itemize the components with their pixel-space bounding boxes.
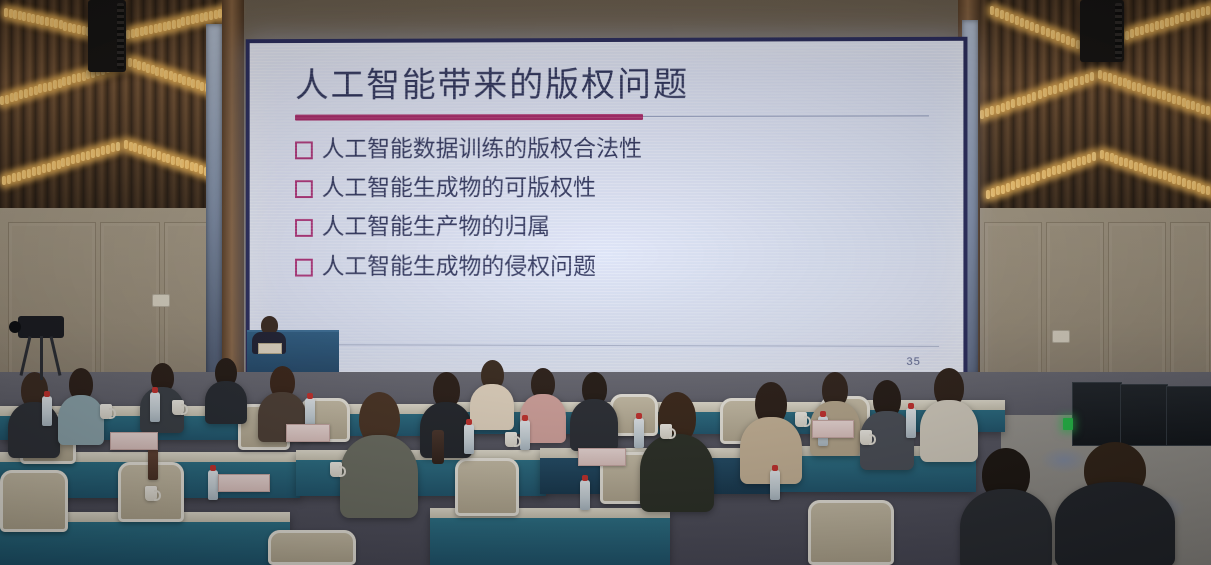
- led-light: [142, 62, 146, 71]
- led-light: [144, 26, 148, 35]
- led-light: [42, 164, 46, 173]
- wall-outlet-right: [1052, 330, 1070, 343]
- led-light: [1177, 96, 1181, 105]
- led-light: [48, 82, 52, 91]
- led-light: [77, 25, 81, 34]
- list-item: 人工智能生成物的可版权性: [295, 175, 929, 200]
- led-light: [7, 175, 11, 184]
- led-light: [1072, 159, 1076, 168]
- led-light: [1182, 98, 1186, 107]
- led-light: [1026, 176, 1030, 185]
- name-placard: [110, 432, 158, 450]
- led-light: [1187, 180, 1191, 189]
- led-light: [1192, 181, 1196, 190]
- led-light: [129, 142, 133, 151]
- water-bottle: [770, 470, 780, 500]
- led-light: [1053, 85, 1057, 94]
- led-light: [1119, 157, 1123, 166]
- led-light: [1035, 24, 1039, 33]
- name-placard: [286, 424, 330, 442]
- led-light: [995, 8, 999, 17]
- led-light: [1162, 91, 1166, 100]
- led-light: [1148, 167, 1152, 176]
- led-light: [32, 167, 36, 176]
- led-light: [209, 11, 213, 20]
- slide-title: 人工智能带来的版权问题: [295, 67, 929, 104]
- led-light: [13, 10, 17, 19]
- led-light: [1163, 171, 1167, 180]
- title-underline: [295, 111, 929, 122]
- led-light: [5, 95, 9, 104]
- led-light: [1147, 87, 1151, 96]
- conference-table: [430, 508, 670, 565]
- led-light: [146, 64, 150, 73]
- tripod-leg: [40, 336, 43, 380]
- led-light: [1153, 168, 1157, 177]
- led-light: [76, 154, 80, 163]
- exit-sign-icon: [1063, 418, 1073, 430]
- led-light: [1139, 163, 1143, 172]
- led-light: [131, 29, 135, 38]
- led-light: [152, 149, 156, 158]
- thermos: [432, 430, 444, 464]
- water-bottle: [906, 408, 916, 438]
- led-light: [27, 169, 31, 178]
- led-light: [985, 108, 989, 117]
- tea-cup: [145, 486, 157, 501]
- led-light: [1108, 73, 1112, 82]
- title-underline-accent: [295, 114, 643, 121]
- led-light: [22, 170, 26, 179]
- led-light: [1137, 83, 1141, 92]
- led-light: [1069, 79, 1073, 88]
- room-partition-panel: [1166, 386, 1211, 446]
- glass-slot-left: [206, 24, 222, 376]
- led-light: [1130, 29, 1134, 38]
- led-light: [116, 142, 120, 151]
- name-placard: [218, 474, 270, 492]
- led-light: [1196, 103, 1200, 112]
- led-light: [133, 59, 137, 68]
- led-light: [57, 160, 61, 169]
- water-bottle: [520, 420, 530, 450]
- led-light: [63, 22, 67, 31]
- led-light: [24, 89, 28, 98]
- led-light: [1103, 72, 1107, 81]
- led-light: [191, 15, 195, 24]
- led-light: [1201, 7, 1205, 16]
- led-light: [10, 93, 14, 102]
- led-light: [1056, 32, 1060, 41]
- bullet-square-icon: [295, 259, 313, 277]
- person-torso: [340, 435, 418, 518]
- led-light: [53, 80, 57, 89]
- led-light: [1038, 90, 1042, 99]
- led-light: [77, 73, 81, 82]
- led-light: [1059, 83, 1063, 92]
- led-light: [1172, 175, 1176, 184]
- name-placard: [578, 448, 626, 466]
- led-light: [81, 152, 85, 161]
- led-light: [140, 27, 144, 36]
- led-light: [17, 172, 21, 181]
- led-light: [1098, 70, 1102, 79]
- led-light: [1071, 38, 1075, 47]
- led-light: [0, 96, 4, 105]
- wall-outlet-left: [152, 294, 170, 307]
- led-light: [1047, 168, 1051, 177]
- led-light: [12, 173, 16, 182]
- led-light: [190, 162, 194, 171]
- led-light: [1134, 162, 1138, 171]
- camera-lens-icon: [9, 321, 21, 333]
- led-light: [1152, 88, 1156, 97]
- led-light: [1027, 94, 1031, 103]
- slide-content: 人工智能带来的版权问题 人工智能数据训练的版权合法性 人工智能生成物的可版权性 …: [250, 41, 964, 377]
- led-light: [86, 151, 90, 160]
- led-light: [1046, 28, 1050, 37]
- tea-cup: [330, 462, 342, 477]
- led-light: [68, 23, 72, 32]
- led-light: [45, 17, 49, 26]
- led-light: [162, 153, 166, 162]
- led-light: [101, 146, 105, 155]
- led-light: [91, 149, 95, 158]
- camera-body: [18, 316, 64, 338]
- led-light: [1135, 27, 1139, 36]
- bullet-text: 人工智能生成物的可版权性: [322, 175, 596, 199]
- led-light: [58, 79, 62, 88]
- led-light: [182, 76, 186, 85]
- led-light: [1158, 170, 1162, 179]
- led-light: [9, 9, 13, 18]
- led-light: [214, 10, 218, 19]
- led-light: [1175, 15, 1179, 24]
- person-torso: [1055, 482, 1175, 565]
- bullet-square-icon: [295, 180, 313, 198]
- led-light: [1118, 77, 1122, 86]
- led-light: [195, 14, 199, 23]
- led-light: [1113, 75, 1117, 84]
- led-light: [82, 72, 86, 81]
- led-light: [47, 163, 51, 172]
- led-light: [167, 21, 171, 30]
- led-light: [1021, 177, 1025, 186]
- water-bottle: [634, 418, 644, 448]
- bullet-text: 人工智能数据训练的版权合法性: [322, 136, 642, 161]
- water-bottle: [464, 424, 474, 454]
- led-light: [200, 82, 204, 91]
- audience-member: [740, 382, 802, 478]
- led-light: [171, 156, 175, 165]
- led-light: [1016, 179, 1020, 188]
- slide-footer-rule: [283, 344, 939, 347]
- led-light: [1168, 173, 1172, 182]
- led-light: [1020, 18, 1024, 27]
- led-light: [149, 25, 153, 34]
- led-light: [1031, 174, 1035, 183]
- water-bottle: [42, 396, 52, 426]
- room-partition-panel: [1120, 384, 1168, 446]
- led-light: [166, 154, 170, 163]
- led-light: [1092, 152, 1096, 161]
- video-camera-rig: [18, 316, 64, 338]
- led-light: [196, 80, 200, 89]
- led-light: [991, 188, 995, 197]
- person-torso: [8, 402, 60, 458]
- led-light: [1010, 14, 1014, 23]
- led-light: [1006, 101, 1010, 110]
- led-light: [54, 19, 58, 28]
- led-light: [138, 145, 142, 154]
- led-light: [1142, 85, 1146, 94]
- audience-member: [1055, 442, 1175, 565]
- led-light: [1057, 165, 1061, 174]
- person-torso: [640, 434, 714, 512]
- led-light: [1124, 158, 1128, 167]
- led-light: [1017, 97, 1021, 106]
- led-light: [66, 157, 70, 166]
- bullet-text: 人工智能生成物的侵权问题: [322, 254, 596, 279]
- tea-cup: [660, 424, 672, 439]
- led-light: [1015, 16, 1019, 25]
- led-light: [1000, 10, 1004, 19]
- led-light: [133, 143, 137, 152]
- led-light: [82, 26, 86, 35]
- led-light: [4, 8, 8, 17]
- led-light: [34, 86, 38, 95]
- led-light: [158, 23, 162, 32]
- led-light: [157, 151, 161, 160]
- led-light: [1100, 150, 1104, 159]
- led-light: [1123, 78, 1127, 87]
- led-light: [1025, 20, 1029, 29]
- audience-member: [140, 363, 184, 429]
- led-light: [1127, 80, 1131, 89]
- led-light: [176, 157, 180, 166]
- led-light: [151, 65, 155, 74]
- led-light: [1064, 81, 1068, 90]
- audience-member: [470, 360, 514, 426]
- slide-bullet-list: 人工智能数据训练的版权合法性 人工智能生成物的可版权性 人工智能生产物的归属 人…: [295, 135, 929, 278]
- led-light: [1191, 10, 1195, 19]
- led-light: [1196, 9, 1200, 18]
- list-item: 人工智能生成物的侵权问题: [295, 254, 929, 279]
- led-light: [204, 12, 208, 21]
- audience-member: [8, 372, 60, 452]
- led-light: [1006, 183, 1010, 192]
- room-partition-panel: [1072, 382, 1122, 446]
- led-light: [1011, 99, 1015, 108]
- led-light: [1041, 26, 1045, 35]
- led-light: [1201, 185, 1205, 194]
- audience-chair: [455, 458, 519, 516]
- tea-cup: [505, 432, 517, 447]
- led-light: [1140, 26, 1144, 35]
- person-torso: [960, 489, 1052, 565]
- led-light: [1043, 88, 1047, 97]
- led-light: [1052, 166, 1056, 175]
- person-torso: [570, 399, 618, 451]
- title-underline-thin: [643, 115, 929, 117]
- led-light: [106, 145, 110, 154]
- led-light: [22, 12, 26, 21]
- led-light: [111, 143, 115, 152]
- led-light: [1001, 103, 1005, 112]
- conference-hall-photo: 人工智能带来的版权问题 人工智能数据训练的版权合法性 人工智能生成物的可版权性 …: [0, 0, 1211, 565]
- led-light: [164, 70, 168, 79]
- led-light: [199, 165, 203, 174]
- led-light: [173, 73, 177, 82]
- led-light: [31, 14, 35, 23]
- led-light: [72, 24, 76, 33]
- led-light: [143, 146, 147, 155]
- led-light: [1125, 31, 1129, 40]
- ceiling-speaker-left: [88, 0, 126, 72]
- led-light: [62, 77, 66, 86]
- led-light: [1129, 160, 1133, 169]
- led-light: [169, 71, 173, 80]
- led-light: [1160, 20, 1164, 29]
- led-light: [163, 22, 167, 31]
- led-light: [1067, 161, 1071, 170]
- audience-member: [340, 392, 418, 510]
- led-light: [1182, 178, 1186, 187]
- led-light: [14, 92, 18, 101]
- led-light: [1114, 155, 1118, 164]
- led-light: [177, 19, 181, 28]
- led-light: [1022, 96, 1026, 105]
- led-light: [72, 74, 76, 83]
- led-light: [986, 190, 990, 199]
- led-light: [1030, 22, 1034, 31]
- led-light: [180, 159, 184, 168]
- led-light: [1082, 156, 1086, 165]
- led-light: [172, 20, 176, 29]
- led-light: [147, 148, 151, 157]
- led-light: [1042, 170, 1046, 179]
- list-item: 人工智能生产物的归属: [295, 214, 929, 239]
- led-light: [1001, 185, 1005, 194]
- led-light: [1177, 176, 1181, 185]
- tea-cup: [860, 430, 872, 445]
- ceiling-speaker-right: [1080, 0, 1124, 62]
- moderator-nameplate: [258, 343, 282, 354]
- led-light: [19, 90, 23, 99]
- person-torso: [470, 384, 514, 430]
- led-light: [155, 67, 159, 76]
- person-torso: [205, 381, 247, 424]
- led-light: [2, 176, 6, 185]
- led-light: [50, 18, 54, 27]
- led-light: [1132, 82, 1136, 91]
- bullet-text: 人工智能生产物的归属: [322, 214, 550, 238]
- led-light: [186, 16, 190, 25]
- led-light: [43, 83, 47, 92]
- water-bottle: [580, 480, 590, 510]
- led-light: [1062, 163, 1066, 172]
- led-light: [1150, 23, 1154, 32]
- water-bottle: [208, 470, 218, 500]
- led-light: [1061, 34, 1065, 43]
- led-light: [1090, 72, 1094, 81]
- list-item: 人工智能数据训练的版权合法性: [295, 135, 929, 160]
- led-light: [37, 166, 41, 175]
- led-light: [980, 110, 984, 119]
- tea-cup: [795, 412, 807, 427]
- led-light: [18, 11, 22, 20]
- audience-member: [920, 368, 978, 456]
- led-light: [1206, 186, 1210, 195]
- led-light: [1074, 77, 1078, 86]
- led-light: [160, 68, 164, 77]
- led-light: [154, 24, 158, 33]
- led-light: [996, 186, 1000, 195]
- led-light: [185, 160, 189, 169]
- water-bottle: [150, 392, 160, 422]
- led-light: [27, 13, 31, 22]
- led-light: [187, 77, 191, 86]
- led-light: [1197, 183, 1201, 192]
- led-light: [1066, 36, 1070, 45]
- led-light: [996, 105, 1000, 114]
- led-light: [128, 58, 132, 67]
- led-light: [1105, 152, 1109, 161]
- led-light: [135, 28, 139, 37]
- name-placard: [812, 420, 854, 438]
- led-light: [1167, 93, 1171, 102]
- led-light: [137, 61, 141, 70]
- led-light: [96, 148, 100, 157]
- bullet-square-icon: [295, 141, 313, 159]
- led-light: [1011, 181, 1015, 190]
- led-light: [1186, 12, 1190, 21]
- led-light: [1145, 24, 1149, 33]
- led-light: [1165, 18, 1169, 27]
- led-light: [1206, 6, 1210, 15]
- wood-pilaster-left: [222, 0, 244, 400]
- audience-chair: [268, 530, 356, 565]
- led-light: [1110, 153, 1114, 162]
- slide-number: 35: [906, 356, 920, 368]
- led-light: [29, 87, 33, 96]
- led-light: [200, 13, 204, 22]
- led-light: [990, 6, 994, 15]
- led-light: [1077, 157, 1081, 166]
- led-light: [1051, 30, 1055, 39]
- led-light: [1085, 74, 1089, 83]
- projection-screen[interactable]: 人工智能带来的版权问题 人工智能数据训练的版权合法性 人工智能生成物的可版权性 …: [246, 37, 968, 381]
- led-light: [1186, 100, 1190, 109]
- led-light: [1087, 154, 1091, 163]
- audience-member: [960, 448, 1052, 565]
- led-light: [67, 76, 71, 85]
- led-light: [191, 79, 195, 88]
- tea-cup: [100, 404, 112, 419]
- led-light: [36, 15, 40, 24]
- led-light: [178, 74, 182, 83]
- led-light: [1157, 90, 1161, 99]
- led-light: [1170, 17, 1174, 26]
- bullet-square-icon: [295, 219, 313, 237]
- audience-chair: [0, 470, 68, 532]
- led-light: [1201, 105, 1205, 114]
- led-light: [1032, 92, 1036, 101]
- led-light: [1080, 76, 1084, 85]
- audience-chair: [808, 500, 894, 565]
- person-torso: [58, 395, 104, 445]
- led-light: [1048, 86, 1052, 95]
